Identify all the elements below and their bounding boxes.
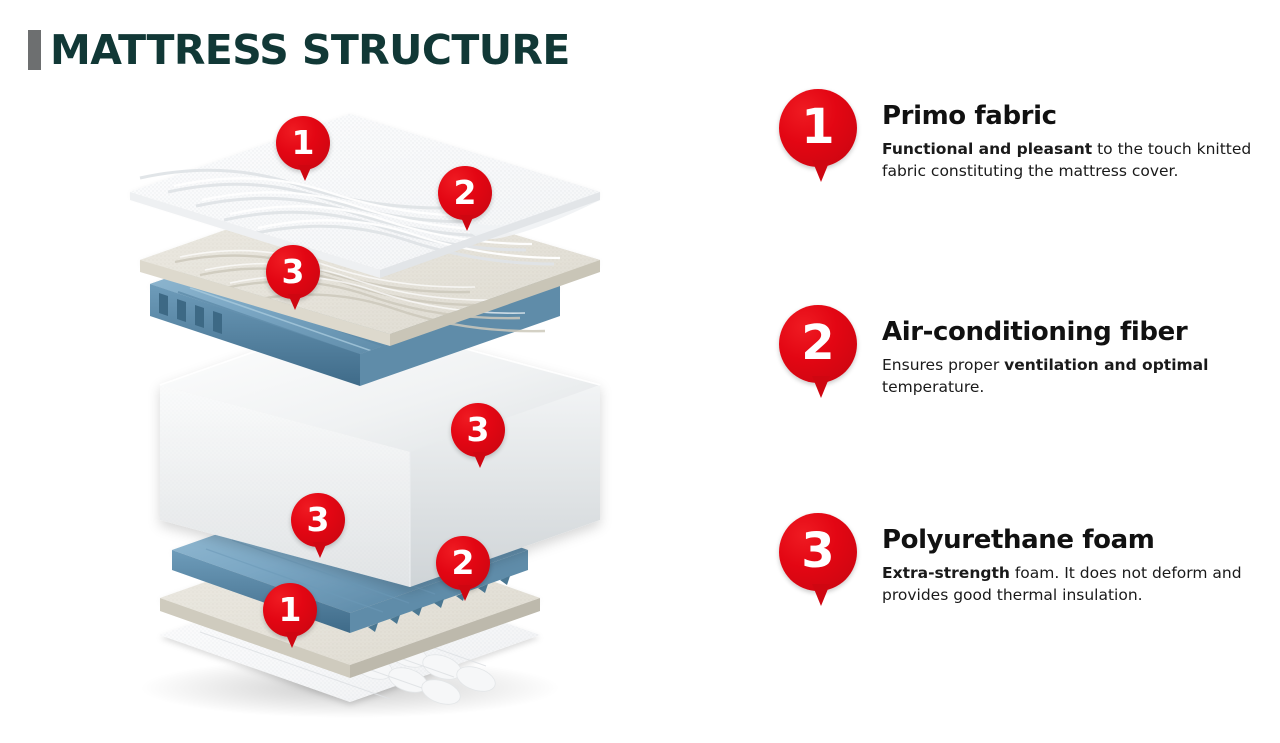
marker-number: 3: [779, 513, 857, 591]
marker-number: 2: [779, 305, 857, 383]
diagram-marker-3-core[interactable]: 3: [451, 403, 505, 457]
marker-number: 3: [291, 493, 345, 547]
legend-description-bold: ventilation and optimal: [1004, 356, 1208, 374]
marker-number: 2: [438, 166, 492, 220]
legend-description-rest: temperature.: [882, 378, 984, 396]
legend-text-block: Polyurethane foam Extra-strength foam. I…: [882, 504, 1270, 606]
page-title: MATTRESS STRUCTURE: [28, 24, 570, 76]
legend-marker-1[interactable]: 1: [779, 89, 857, 167]
legend-marker-3[interactable]: 3: [779, 513, 857, 591]
legend-list: 1 Primo fabric Functional and pleasant t…: [770, 80, 1270, 704]
legend-text-block: Air-conditioning fiber Ensures proper ve…: [882, 296, 1270, 398]
legend-description-lead: Ensures proper: [882, 356, 1004, 374]
marker-number: 1: [276, 116, 330, 170]
legend-description-bold: Functional and pleasant: [882, 140, 1092, 158]
diagram-marker-1-top[interactable]: 1: [276, 116, 330, 170]
legend-title: Polyurethane foam: [882, 526, 1270, 556]
legend-marker-2[interactable]: 2: [779, 305, 857, 383]
legend-item-primo-fabric[interactable]: 1 Primo fabric Functional and pleasant t…: [770, 80, 1270, 296]
marker-number: 3: [266, 245, 320, 299]
legend-description: Ensures proper ventilation and optimal t…: [882, 354, 1270, 398]
marker-number: 1: [779, 89, 857, 167]
diagram-marker-3-blue-top[interactable]: 3: [266, 245, 320, 299]
page-title-text: MATTRESS STRUCTURE: [50, 30, 570, 71]
legend-item-polyurethane-foam[interactable]: 3 Polyurethane foam Extra-strength foam.…: [770, 504, 1270, 704]
diagram-marker-3-blue-bottom[interactable]: 3: [291, 493, 345, 547]
legend-item-air-conditioning-fiber[interactable]: 2 Air-conditioning fiber Ensures proper …: [770, 296, 1270, 504]
marker-number: 1: [263, 583, 317, 637]
legend-description: Extra-strength foam. It does not deform …: [882, 562, 1270, 606]
diagram-marker-1-bottom[interactable]: 1: [263, 583, 317, 637]
mattress-exploded-diagram: 1 2 3 3 3 2 1: [0, 70, 700, 730]
legend-text-block: Primo fabric Functional and pleasant to …: [882, 80, 1270, 182]
legend-title: Air-conditioning fiber: [882, 318, 1270, 348]
legend-description: Functional and pleasant to the touch kni…: [882, 138, 1270, 182]
marker-number: 2: [436, 536, 490, 590]
diagram-marker-2-bottom[interactable]: 2: [436, 536, 490, 590]
title-accent-bar: [28, 30, 41, 70]
diagram-marker-2-top[interactable]: 2: [438, 166, 492, 220]
marker-number: 3: [451, 403, 505, 457]
legend-description-bold: Extra-strength: [882, 564, 1010, 582]
legend-title: Primo fabric: [882, 102, 1270, 132]
